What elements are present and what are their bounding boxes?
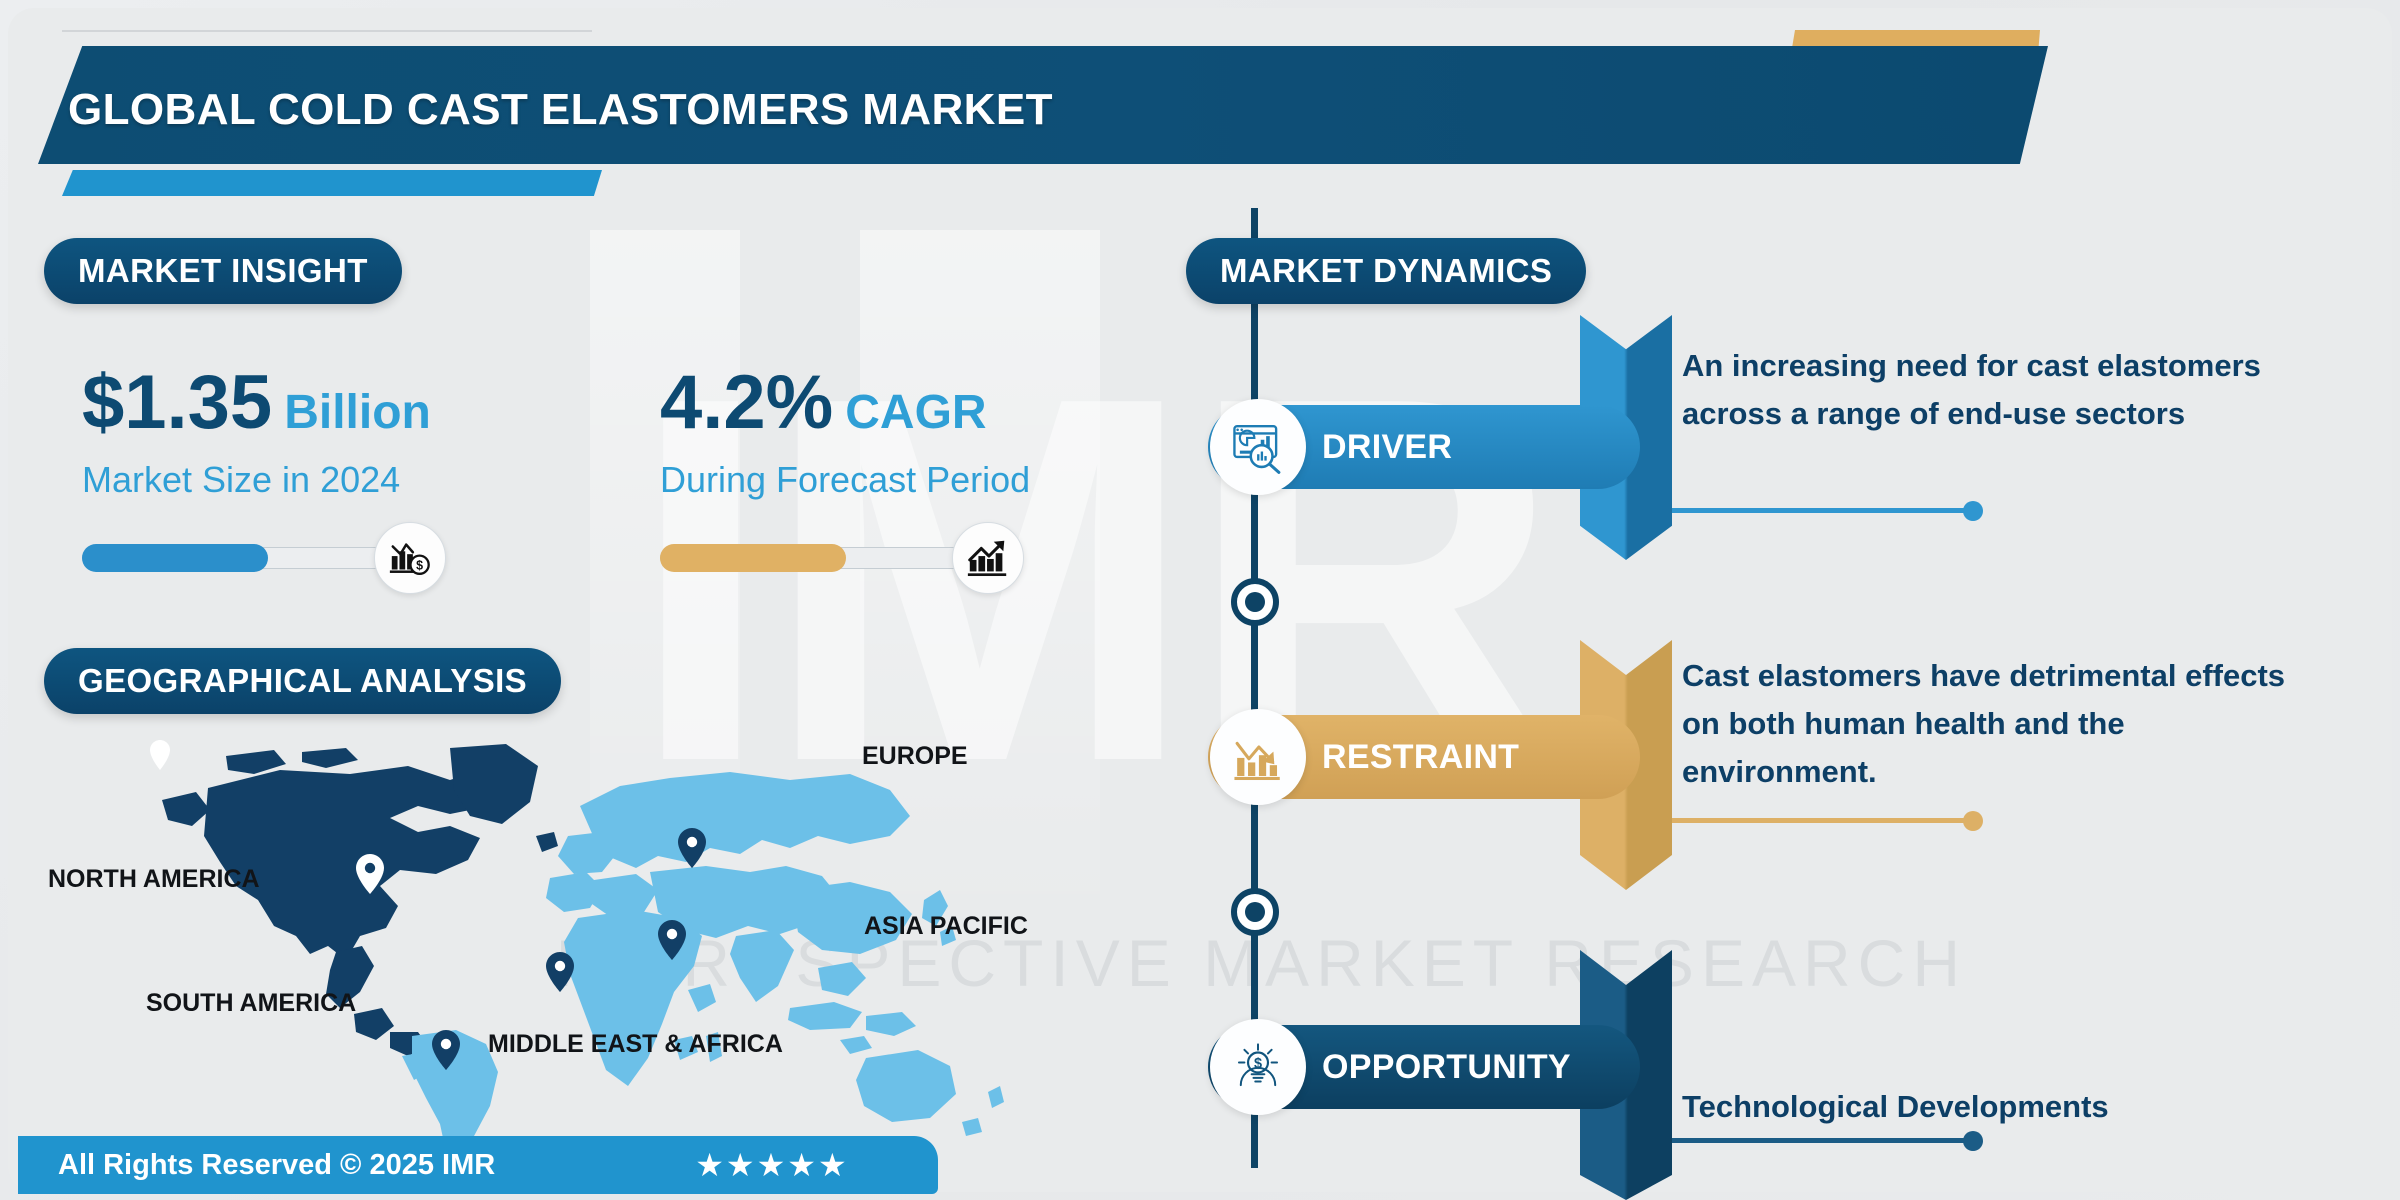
geo-label-middle-east-africa: MIDDLE EAST & AFRICA: [488, 1030, 783, 1059]
map-pin-south-america: [432, 1030, 460, 1070]
bar-chart-dollar-icon: $: [374, 522, 446, 594]
restraint-leader-dot: [1963, 811, 1983, 831]
stat-market-size-value-row: $1.35Billion: [82, 365, 431, 441]
map-pin-middle-east-africa: [546, 952, 574, 992]
lightbulb-dollar-icon: $: [1210, 1019, 1306, 1115]
header-thin-rule: [62, 30, 592, 32]
map-pin-north-america: [356, 854, 384, 894]
geo-label-asia-pacific: ASIA PACIFIC: [864, 912, 1028, 941]
timeline-node-1: [1231, 578, 1279, 626]
world-map: [150, 740, 1020, 1160]
map-pin-north-america: [150, 740, 170, 770]
driver-label: DRIVER: [1322, 428, 1452, 467]
rating-stars-icon: ★★★★★: [695, 1146, 848, 1184]
market-insight-heading: MARKET INSIGHT: [44, 238, 402, 304]
footer-copyright: All Rights Reserved © 2025 IMR: [58, 1149, 495, 1182]
restraint-leader-line: [1672, 818, 1974, 823]
stat-cagr-label: During Forecast Period: [660, 459, 1030, 501]
page-title: GLOBAL COLD CAST ELASTOMERS MARKET: [68, 85, 1053, 135]
opportunity-leader-dot: [1963, 1131, 1983, 1151]
geo-label-south-america: SOUTH AMERICA: [146, 989, 356, 1018]
stat-cagr: 4.2%CAGR During Forecast Period: [660, 365, 1030, 583]
map-pins: [150, 740, 170, 770]
declining-bar-chart-icon: [1210, 709, 1306, 805]
restraint-description: Cast elastomers have detrimental effects…: [1682, 652, 2302, 796]
header-blue-accent: [62, 170, 602, 196]
geo-label-north-america: NORTH AMERICA: [48, 865, 260, 894]
timeline-node-2: [1231, 888, 1279, 936]
geographical-analysis-heading: GEOGRAPHICAL ANALYSIS: [44, 648, 561, 714]
market-dynamics-heading-label: MARKET DYNAMICS: [1220, 252, 1552, 290]
restraint-label: RESTRAINT: [1322, 738, 1519, 777]
progress-fill: [660, 544, 846, 572]
stat-cagr-value: 4.2%: [660, 360, 833, 445]
market-dynamics-heading: MARKET DYNAMICS: [1186, 238, 1586, 304]
stat-cagr-unit: CAGR: [845, 386, 986, 439]
progress-fill: [82, 544, 268, 572]
stat-market-size: $1.35Billion Market Size in 2024 $: [82, 365, 431, 583]
opportunity-leader-line: [1672, 1138, 1974, 1143]
stat-cagr-value-row: 4.2%CAGR: [660, 365, 1030, 441]
stat-market-size-unit: Billion: [284, 386, 431, 439]
map-pin-asia-pacific: [658, 920, 686, 960]
stat-cagr-progress: [660, 531, 1000, 583]
svg-text:$: $: [1254, 1056, 1262, 1072]
growth-arrow-icon: [952, 522, 1024, 594]
stat-market-size-label: Market Size in 2024: [82, 459, 431, 501]
opportunity-label: OPPORTUNITY: [1322, 1048, 1571, 1087]
dashboard-magnifier-icon: [1210, 399, 1306, 495]
opportunity-description: Technological Developments: [1682, 1083, 2302, 1131]
driver-leader-line: [1672, 508, 1974, 513]
infographic-canvas: IMR INTROSPECTIVE MARKET RESEARCH GLOBAL…: [0, 0, 2400, 1200]
driver-description: An increasing need for cast elastomers a…: [1682, 342, 2302, 438]
market-insight-heading-label: MARKET INSIGHT: [78, 252, 368, 290]
map-pin-europe: [678, 828, 706, 868]
stat-market-size-value: $1.35: [82, 360, 272, 445]
driver-leader-dot: [1963, 501, 1983, 521]
geo-label-europe: EUROPE: [862, 742, 968, 771]
svg-text:$: $: [416, 559, 423, 573]
geographical-analysis-heading-label: GEOGRAPHICAL ANALYSIS: [78, 662, 527, 700]
footer-bar: All Rights Reserved © 2025 IMR ★★★★★: [18, 1136, 938, 1194]
stat-market-size-progress: $: [82, 531, 422, 583]
